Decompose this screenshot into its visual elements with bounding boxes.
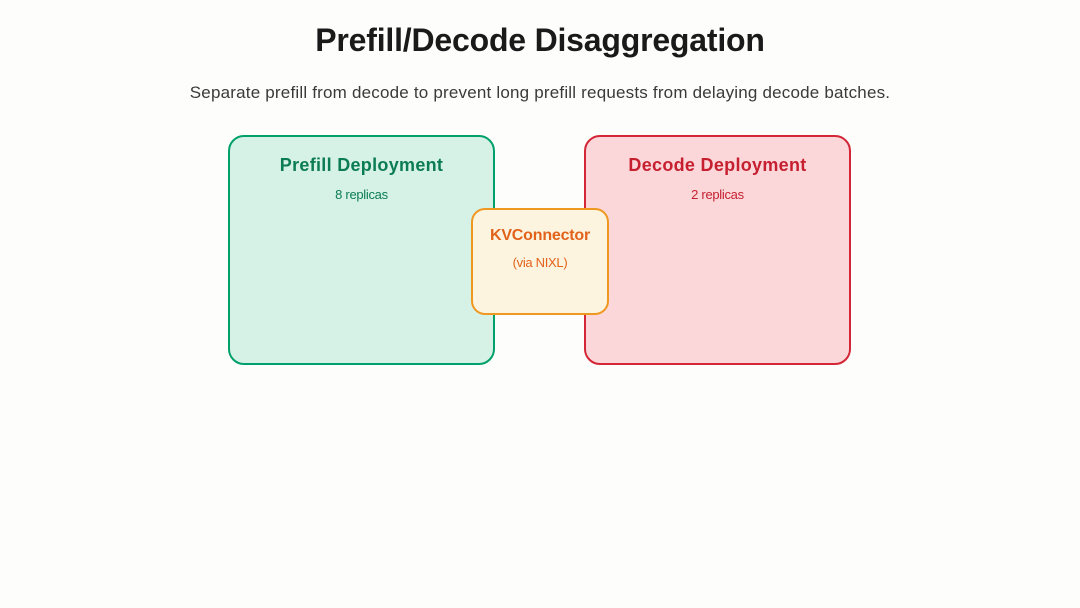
page-subtitle: Separate prefill from decode to prevent … bbox=[0, 83, 1080, 103]
decode-deployment-box: Decode Deployment 2 replicas bbox=[584, 135, 851, 365]
kv-connector-heading: KVConnector bbox=[473, 227, 607, 245]
kv-connector-box: KVConnector (via NIXL) bbox=[471, 208, 609, 315]
prefill-deployment-heading: Prefill Deployment bbox=[230, 155, 493, 176]
prefill-deployment-box: Prefill Deployment 8 replicas bbox=[228, 135, 495, 365]
decode-deployment-heading: Decode Deployment bbox=[586, 155, 849, 176]
slide-canvas: Prefill/Decode Disaggregation Separate p… bbox=[0, 0, 1080, 608]
kv-connector-transport-label: (via NIXL) bbox=[473, 255, 607, 270]
page-title: Prefill/Decode Disaggregation bbox=[0, 22, 1080, 59]
decode-replicas-label: 2 replicas bbox=[586, 187, 849, 202]
prefill-replicas-label: 8 replicas bbox=[230, 187, 493, 202]
